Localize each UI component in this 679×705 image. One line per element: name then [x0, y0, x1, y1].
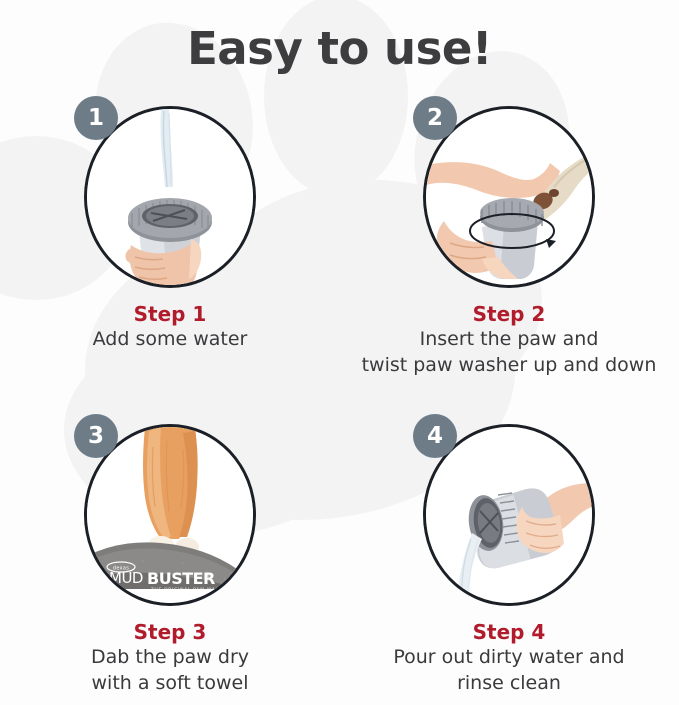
- step-card-2: 2 Step 2 Insert the paw and twist paw wa…: [339, 96, 679, 378]
- step-4-label: Step 4: [339, 620, 679, 645]
- page-title: Easy to use!: [0, 22, 679, 75]
- step-3-desc-line-1: Dab the paw dry: [0, 645, 340, 671]
- step-2-desc-line-2: twist paw washer up and down: [339, 353, 679, 379]
- step-1-desc-line-1: Add some water: [0, 327, 340, 353]
- step-3-caption: Step 3 Dab the paw dry with a soft towel: [0, 620, 340, 696]
- step-4-desc-line-1: Pour out dirty water and: [339, 645, 679, 671]
- step-1-photo: 1: [70, 96, 270, 296]
- scene-dab-paw-dry: dexas MUD BUSTER ® THE ORIGINAL PAW WASH…: [87, 427, 253, 603]
- step-3-desc-line-2: with a soft towel: [0, 671, 340, 697]
- step-1-label: Step 1: [0, 302, 340, 327]
- step-4-photo: MUDBUSTER 4: [409, 414, 609, 614]
- step-1-number-badge: 1: [74, 96, 118, 140]
- infographic-root: Easy to use!: [0, 0, 679, 705]
- step-3-label: Step 3: [0, 620, 340, 645]
- step-2-photo: 2: [409, 96, 609, 296]
- step-4-caption: Step 4 Pour out dirty water and rinse cl…: [339, 620, 679, 696]
- step-card-4: MUDBUSTER 4: [339, 414, 679, 696]
- svg-text:THE ORIGINAL PAW WASHER: THE ORIGINAL PAW WASHER: [150, 587, 231, 593]
- step-2-label: Step 2: [339, 302, 679, 327]
- step-3-number-badge: 3: [74, 414, 118, 458]
- scene-add-water: [87, 109, 253, 285]
- scene-pour-out-water: MUDBUSTER: [426, 427, 592, 603]
- step-1-caption: Step 1 Add some water: [0, 302, 340, 353]
- svg-text:®: ®: [205, 572, 210, 579]
- svg-text:MUD: MUD: [109, 569, 143, 587]
- step-card-3: dexas MUD BUSTER ® THE ORIGINAL PAW WASH…: [0, 414, 340, 696]
- step-2-number-badge: 2: [413, 96, 457, 140]
- step-2-caption: Step 2 Insert the paw and twist paw wash…: [339, 302, 679, 378]
- step-4-number-badge: 4: [413, 414, 457, 458]
- step-2-desc-line-1: Insert the paw and: [339, 327, 679, 353]
- step-card-1: 1 Step 1 Add some water: [0, 96, 340, 353]
- scene-insert-paw: [426, 109, 592, 285]
- step-4-desc-line-2: rinse clean: [339, 671, 679, 697]
- step-3-photo: dexas MUD BUSTER ® THE ORIGINAL PAW WASH…: [70, 414, 270, 614]
